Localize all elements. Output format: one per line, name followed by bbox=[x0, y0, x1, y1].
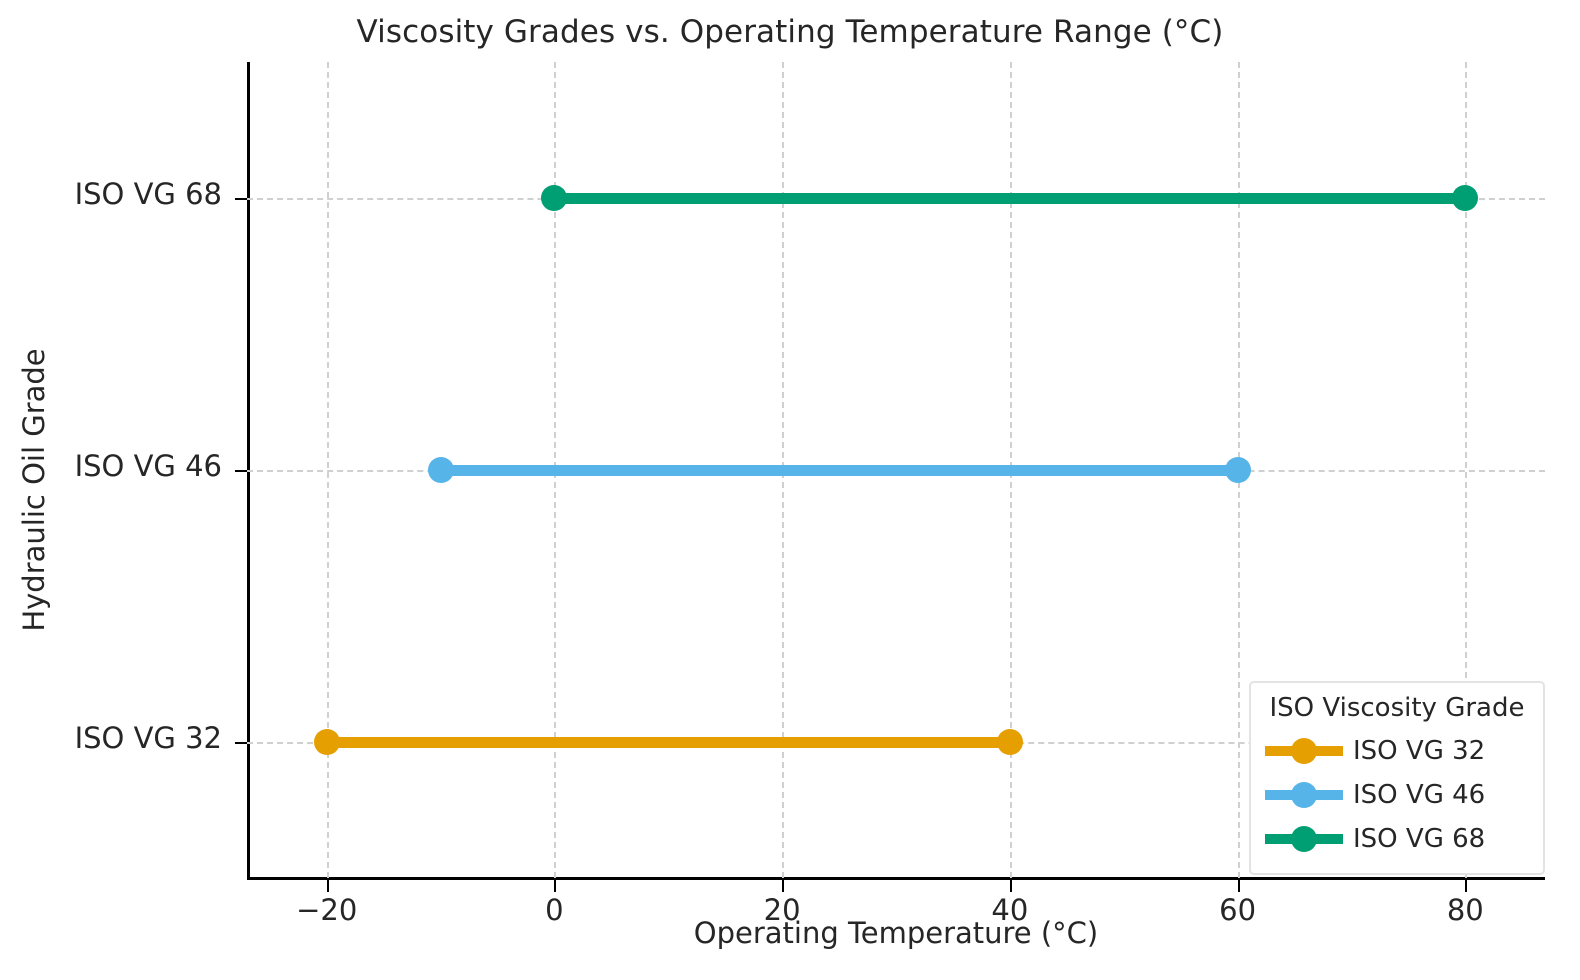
range-line bbox=[327, 737, 1010, 748]
y-tick-mark bbox=[235, 198, 247, 200]
range-line bbox=[554, 193, 1465, 204]
chart-figure: Viscosity Grades vs. Operating Temperatu… bbox=[0, 0, 1580, 980]
range-end-marker bbox=[997, 729, 1023, 755]
legend-entry[interactable]: ISO VG 46 bbox=[1265, 773, 1529, 817]
range-start-marker bbox=[314, 729, 340, 755]
legend-entry[interactable]: ISO VG 32 bbox=[1265, 729, 1529, 773]
x-tick-mark bbox=[782, 880, 784, 892]
legend-entry[interactable]: ISO VG 68 bbox=[1265, 817, 1529, 861]
x-tick-label: 0 bbox=[494, 893, 614, 927]
x-tick-label: 80 bbox=[1405, 893, 1525, 927]
range-end-marker bbox=[1225, 457, 1251, 483]
x-tick-label: −20 bbox=[267, 893, 387, 927]
legend[interactable]: ISO Viscosity Grade ISO VG 32ISO VG 46IS… bbox=[1249, 681, 1545, 875]
y-tick-mark bbox=[235, 470, 247, 472]
chart-title: Viscosity Grades vs. Operating Temperatu… bbox=[0, 14, 1580, 50]
legend-swatch bbox=[1265, 782, 1343, 808]
x-tick-mark bbox=[1238, 880, 1240, 892]
y-tick-label: ISO VG 68 bbox=[0, 177, 222, 211]
x-axis-title: Operating Temperature (°C) bbox=[247, 916, 1545, 950]
y-tick-label: ISO VG 32 bbox=[0, 721, 222, 755]
legend-swatch bbox=[1265, 738, 1343, 764]
range-line bbox=[441, 465, 1238, 476]
range-start-marker bbox=[541, 185, 567, 211]
legend-label: ISO VG 68 bbox=[1353, 824, 1485, 854]
x-tick-label: 20 bbox=[722, 893, 842, 927]
y-tick-mark bbox=[235, 742, 247, 744]
y-axis-title: Hydraulic Oil Grade bbox=[14, 0, 54, 980]
range-end-marker bbox=[1452, 185, 1478, 211]
x-tick-label: 60 bbox=[1178, 893, 1298, 927]
legend-label: ISO VG 46 bbox=[1353, 780, 1485, 810]
range-start-marker bbox=[428, 457, 454, 483]
legend-swatch bbox=[1265, 826, 1343, 852]
legend-dot-icon bbox=[1291, 826, 1317, 852]
legend-dot-icon bbox=[1291, 738, 1317, 764]
y-tick-label: ISO VG 46 bbox=[0, 449, 222, 483]
legend-label: ISO VG 32 bbox=[1353, 736, 1485, 766]
legend-entries: ISO VG 32ISO VG 46ISO VG 68 bbox=[1265, 729, 1529, 861]
x-tick-mark bbox=[1010, 880, 1012, 892]
x-tick-mark bbox=[554, 880, 556, 892]
legend-title: ISO Viscosity Grade bbox=[1265, 693, 1529, 723]
x-tick-label: 40 bbox=[950, 893, 1070, 927]
x-tick-mark bbox=[1465, 880, 1467, 892]
legend-dot-icon bbox=[1291, 782, 1317, 808]
x-tick-mark bbox=[327, 880, 329, 892]
